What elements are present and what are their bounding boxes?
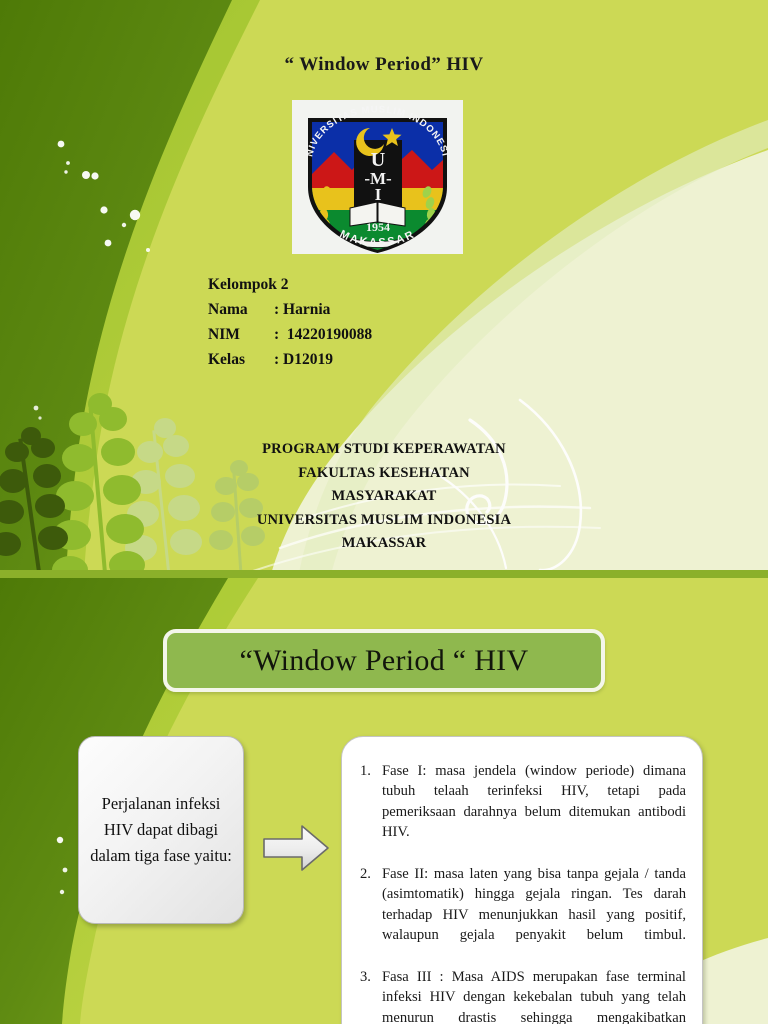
list-item-text: Fase II: masa laten yang bisa tanpa geja…	[382, 864, 686, 966]
info-row-nim: NIM: 14220190088	[208, 322, 372, 347]
svg-text:I: I	[375, 185, 382, 204]
universitas-muslim-indonesia-logo: U -M- I	[292, 100, 463, 254]
intro-callout-box: Perjalanan infeksi HIV dapat dibagi dala…	[78, 736, 244, 924]
org-line-1: PROGRAM STUDI KEPERAWATAN	[0, 438, 768, 462]
slide1-title: “ Window Period” HIV	[0, 54, 768, 76]
info-row-nama: Nama: Harnia	[208, 297, 372, 322]
slide2-title-text: “Window Period “ HIV	[240, 644, 529, 678]
info-label-nim: NIM	[208, 322, 274, 347]
slide-1-title-slide: “ Window Period” HIV	[0, 0, 768, 578]
phases-list: 1. Fase I: masa jendela (window periode)…	[356, 761, 686, 1024]
student-info-block: Kelompok 2 Nama: Harnia NIM: 14220190088…	[208, 272, 372, 372]
svg-text:U: U	[371, 149, 385, 171]
org-line-5: MAKASSAR	[0, 532, 768, 556]
info-label-kelas: Kelas	[208, 347, 274, 372]
intro-callout-text: Perjalanan infeksi HIV dapat dibagi dala…	[87, 791, 235, 869]
info-value-kelas: D12019	[283, 351, 333, 368]
list-item-text: Fase I: masa jendela (window periode) di…	[382, 761, 686, 863]
right-arrow-icon	[262, 822, 330, 874]
org-line-3: MASYARAKAT	[0, 485, 768, 509]
info-group: Kelompok 2	[208, 272, 372, 297]
list-item: 2. Fase II: masa laten yang bisa tanpa g…	[356, 864, 686, 966]
organisation-block: PROGRAM STUDI KEPERAWATAN FAKULTAS KESEH…	[0, 438, 768, 556]
info-value-nama: Harnia	[283, 301, 330, 318]
presentation-deck: “ Window Period” HIV	[0, 0, 768, 1024]
info-sep-nama: :	[274, 301, 279, 318]
slide2-title-banner: “Window Period “ HIV	[163, 629, 605, 692]
org-line-4: UNIVERSITAS MUSLIM INDONESIA	[0, 509, 768, 533]
svg-text:1954: 1954	[366, 220, 390, 234]
list-item-text: Fasa III : Masa AIDS merupakan fase term…	[382, 967, 686, 1024]
list-item-number: 2.	[356, 864, 382, 884]
list-item-number: 3.	[356, 967, 382, 987]
info-sep-kelas: :	[274, 351, 279, 368]
info-label-nama: Nama	[208, 297, 274, 322]
phases-list-box: 1. Fase I: masa jendela (window periode)…	[341, 736, 703, 1024]
list-item: 1. Fase I: masa jendela (window periode)…	[356, 761, 686, 863]
info-row-kelas: Kelas: D12019	[208, 347, 372, 372]
info-value-nim: 14220190088	[287, 326, 372, 343]
list-item-number: 1.	[356, 761, 382, 781]
org-line-2: FAKULTAS KESEHATAN	[0, 462, 768, 486]
list-item: 3. Fasa III : Masa AIDS merupakan fase t…	[356, 967, 686, 1024]
info-sep-nim: :	[274, 326, 279, 343]
slide1-bottom-bar	[0, 570, 768, 578]
